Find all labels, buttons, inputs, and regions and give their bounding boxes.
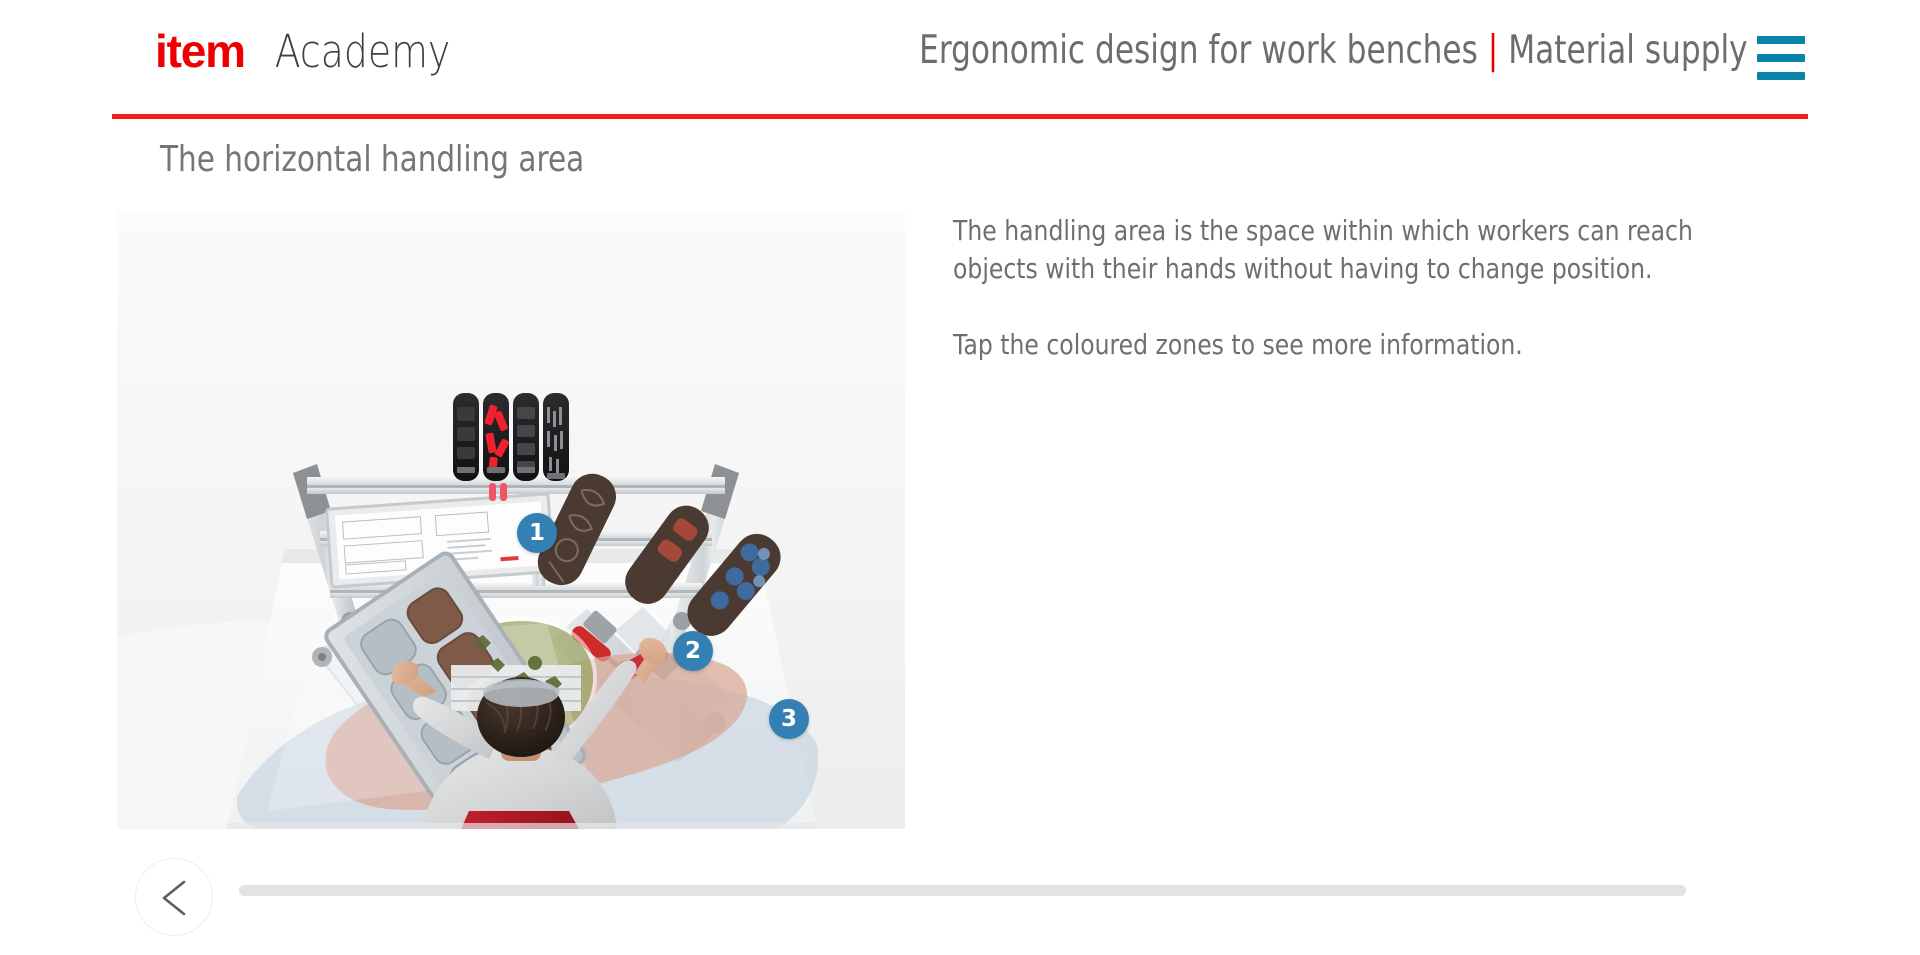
hamburger-bar-3 xyxy=(1757,72,1805,80)
hotspot-zone-1-label: 1 xyxy=(529,522,545,545)
handling-area-illustration[interactable]: 1 2 3 xyxy=(117,211,905,829)
app-header: item Academy Ergonomic design for work b… xyxy=(0,0,1920,119)
progress-bar-track[interactable] xyxy=(239,885,1686,896)
course-title-separator: | xyxy=(1488,28,1499,73)
previous-slide-button[interactable] xyxy=(135,858,213,936)
description-paragraph: The handling area is the space within wh… xyxy=(953,212,1713,288)
course-title-main: Ergonomic design for work benches xyxy=(919,28,1478,73)
hamburger-bar-2 xyxy=(1757,54,1805,62)
hotspot-zone-3-label: 3 xyxy=(781,708,797,731)
hamburger-menu-icon[interactable] xyxy=(1757,36,1805,80)
chevron-left-icon xyxy=(158,878,192,918)
header-divider xyxy=(112,114,1808,119)
progress-bar-fill xyxy=(239,885,1686,896)
hotspot-zone-2-label: 2 xyxy=(685,640,701,663)
hotspot-zone-3[interactable]: 3 xyxy=(769,699,809,739)
brand-logo-item: item xyxy=(155,28,245,74)
hotspot-zone-2[interactable]: 2 xyxy=(673,631,713,671)
instruction-paragraph: Tap the coloured zones to see more infor… xyxy=(953,326,1713,364)
course-title: Ergonomic design for work benches | Mate… xyxy=(919,30,1748,73)
hamburger-bar-1 xyxy=(1757,36,1805,44)
brand-logo[interactable]: item Academy xyxy=(155,28,467,74)
hotspot-zone-1[interactable]: 1 xyxy=(517,513,557,553)
brand-logo-academy: Academy xyxy=(275,29,451,74)
content-panel: The handling area is the space within wh… xyxy=(953,212,1713,364)
course-title-section: Material supply xyxy=(1509,28,1748,73)
page-title: The horizontal handling area xyxy=(160,138,584,181)
